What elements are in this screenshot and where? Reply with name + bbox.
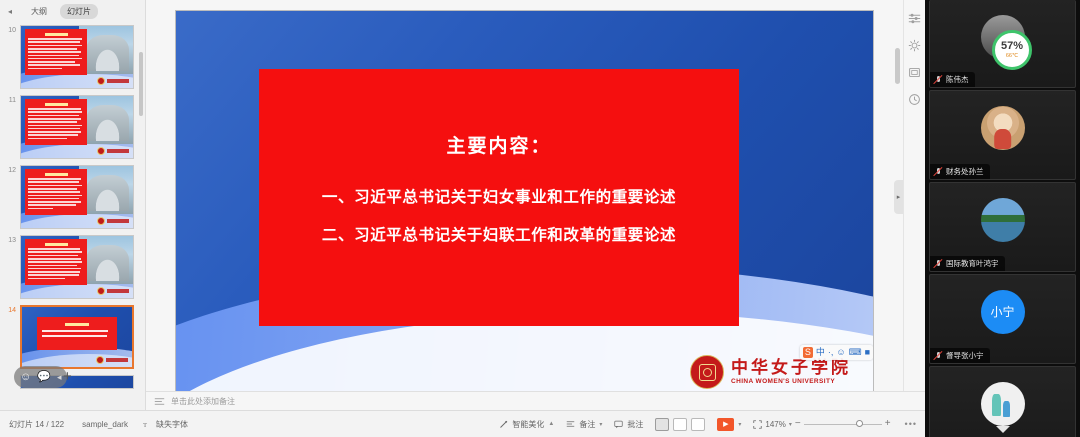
thumb-logo	[97, 77, 129, 85]
zoom-slider-knob[interactable]	[856, 420, 863, 427]
frame-icon[interactable]	[908, 66, 921, 79]
font-warning-label: 缺失字体	[156, 419, 188, 430]
normal-view-icon[interactable]	[655, 418, 669, 431]
avatar	[981, 106, 1025, 150]
slide-bullet-1: 一、习近平总书记关于妇女事业和工作的重要论述	[322, 185, 676, 207]
floating-pill-toolbar[interactable]: ☺ 💬 ◂	[14, 366, 67, 388]
font-warning-icon: T	[143, 420, 152, 429]
ime-emoji-icon[interactable]: ☺	[836, 347, 845, 358]
thumb-logo	[97, 147, 129, 155]
status-bar: 幻灯片 14 / 122 sample_dark T 缺失字体 智能美化 ▲ 备…	[0, 410, 925, 437]
mic-muted-icon	[933, 351, 943, 361]
list-item[interactable]: 11	[0, 92, 145, 162]
play-group: ▶ ▾	[711, 418, 747, 431]
zoom-slider-track[interactable]	[804, 424, 882, 425]
thumb-number: 12	[0, 165, 20, 174]
ime-logo-icon[interactable]: S	[803, 347, 813, 358]
thumb-logo	[97, 217, 129, 225]
canvas-scrollbar[interactable]	[895, 48, 900, 84]
participant-namebar: 财务处孙兰	[930, 164, 990, 179]
ime-language-icon[interactable]: 中	[816, 347, 825, 358]
chevron-up-icon[interactable]: ▲	[548, 421, 554, 427]
logo-name-cn: 中华女子学院	[731, 359, 851, 376]
ime-floating-toolbar[interactable]: S 中 ·, ☺ ⌨ ■	[800, 345, 873, 360]
notes-toggle-button[interactable]: 备注 ▾	[560, 419, 608, 430]
notes-placeholder: 单击此处添加备注	[171, 396, 235, 407]
thumb-logo	[96, 356, 128, 364]
slide-count-label[interactable]: 幻灯片 14 / 122	[0, 419, 73, 430]
participant-name: 陈伟杰	[946, 74, 969, 85]
logo-name-en: CHINA WOMEN'S UNIVERSITY	[731, 379, 851, 386]
thumb-building-photo	[79, 236, 133, 284]
university-seal-icon	[97, 77, 105, 85]
tab-slides[interactable]: 幻灯片	[60, 4, 98, 19]
notes-bar[interactable]: 单击此处添加备注	[146, 391, 925, 410]
view-mode-group	[649, 418, 711, 431]
thumb-preview[interactable]	[20, 95, 134, 159]
comment-button[interactable]: 批注	[608, 419, 649, 430]
notes-icon	[566, 420, 575, 428]
mic-muted-icon	[933, 259, 943, 269]
slide-thumbnail-panel: ◂ 大纲 幻灯片 10	[0, 0, 146, 410]
thumb-building-photo	[79, 96, 133, 144]
reading-view-icon[interactable]	[691, 418, 705, 431]
participant-name: 国际教育叶鸿宇	[946, 258, 999, 269]
side-panel-collapse-button[interactable]: ▸	[894, 180, 903, 214]
logo-text-block: 中华女子学院 CHINA WOMEN'S UNIVERSITY	[731, 359, 851, 386]
zoom-level-label[interactable]: 147%	[765, 420, 785, 429]
smiley-icon[interactable]: ☺	[20, 372, 31, 383]
slide-red-content-box[interactable]: 主要内容： 一、习近平总书记关于妇女事业和工作的重要论述 二、习近平总书记关于妇…	[259, 69, 739, 326]
avatar	[981, 382, 1025, 426]
font-warning[interactable]: T 缺失字体	[137, 419, 194, 430]
battery-status-widget[interactable]: 57% 66℃	[992, 30, 1032, 70]
participant-tile[interactable]: 财务处孙兰	[929, 90, 1076, 180]
battery-percent: 57%	[1001, 41, 1023, 52]
participant-namebar: 督导张小宁	[930, 348, 990, 363]
thumb-number: 13	[0, 235, 20, 244]
thumb-red-textbox	[25, 99, 87, 145]
slide-university-logo: 中华女子学院 CHINA WOMEN'S UNIVERSITY	[690, 355, 851, 389]
slide-canvas[interactable]: 主要内容： 一、习近平总书记关于妇女事业和工作的重要论述 二、习近平总书记关于妇…	[176, 11, 873, 397]
thumb-number: 14	[0, 305, 20, 314]
list-item[interactable]: 12	[0, 162, 145, 232]
status-overflow-button[interactable]: •••	[897, 419, 925, 429]
participant-tile[interactable]: 国际教育叶鸿宇	[929, 182, 1076, 272]
thumb-red-textbox	[25, 239, 87, 285]
slide-editor: 主要内容： 一、习近平总书记关于妇女事业和工作的重要论述 二、习近平总书记关于妇…	[146, 0, 925, 410]
add-slide-button[interactable]: +	[63, 366, 72, 388]
editor-side-toolbar	[903, 0, 925, 410]
tab-outline[interactable]: 大纲	[28, 4, 50, 19]
thumb-number: 10	[0, 25, 20, 34]
chevron-down-icon[interactable]: ▾	[738, 421, 741, 428]
thumb-red-textbox	[25, 169, 87, 215]
thumbnail-panel-tabs: ◂ 大纲 幻灯片	[0, 0, 145, 22]
avatar-initials: 小宁	[981, 290, 1025, 334]
slide-bullet-2: 二、习近平总书记关于妇联工作和改革的重要论述	[322, 223, 676, 245]
thumbnail-scroll-area[interactable]: 10	[0, 22, 145, 410]
history-clock-icon[interactable]	[908, 93, 921, 106]
notes-icon	[154, 397, 165, 406]
university-seal-icon	[690, 355, 724, 389]
thumb-preview[interactable]	[20, 25, 134, 89]
thumb-logo	[97, 287, 129, 295]
avatar: 小宁	[981, 290, 1025, 334]
chevron-down-icon[interactable]: ▾	[599, 421, 602, 428]
panel-collapse-icon[interactable]: ◂	[8, 7, 18, 16]
thumb-preview[interactable]	[20, 235, 134, 299]
list-item[interactable]: 13	[0, 232, 145, 302]
thumb-building-photo	[79, 26, 133, 74]
play-icon[interactable]: ▶	[717, 418, 734, 431]
app-root: ◂ 大纲 幻灯片 10	[0, 0, 1080, 437]
ime-toolbox-icon[interactable]: ■	[865, 347, 870, 358]
thumb-red-card	[37, 317, 116, 350]
mic-muted-icon	[933, 167, 943, 177]
thumb-red-textbox	[25, 29, 87, 75]
magic-wand-icon	[499, 420, 508, 429]
zoom-out-button[interactable]: −	[795, 419, 801, 429]
university-seal-icon	[96, 356, 104, 364]
beautify-button[interactable]: 智能美化 ▲	[493, 419, 560, 430]
comment-icon[interactable]: 💬	[37, 372, 51, 383]
participant-name: 财务处孙兰	[946, 166, 984, 177]
ime-keyboard-icon[interactable]: ⌨	[849, 347, 862, 358]
mic-muted-icon	[933, 75, 943, 85]
chevron-down-icon[interactable]: ▾	[789, 421, 792, 428]
theme-name-label[interactable]: sample_dark	[73, 420, 137, 429]
slide-title: 主要内容：	[446, 131, 551, 158]
zoom-control: 147% ▾ − +	[747, 419, 896, 429]
university-seal-icon	[97, 147, 105, 155]
comment-icon	[614, 420, 623, 429]
thumb-preview[interactable]	[20, 165, 134, 229]
thumb-building-photo	[79, 166, 133, 214]
university-seal-icon	[97, 217, 105, 225]
zoom-in-button[interactable]: +	[885, 419, 891, 429]
slide-sorter-icon[interactable]	[673, 418, 687, 431]
battery-temperature: 66℃	[1006, 53, 1018, 59]
sliders-icon[interactable]	[908, 12, 921, 25]
thumb-preview-selected[interactable]	[20, 305, 134, 369]
chevron-down-icon[interactable]	[996, 426, 1010, 433]
participant-name: 督导张小宁	[946, 350, 984, 361]
svg-text:T: T	[143, 421, 148, 428]
chevron-left-icon[interactable]: ◂	[57, 372, 62, 383]
ime-punctuation-icon[interactable]: ·,	[828, 347, 834, 358]
beautify-label: 智能美化	[512, 419, 544, 430]
fit-to-window-icon[interactable]	[753, 420, 762, 429]
thumbnail-scrollbar[interactable]	[139, 52, 143, 116]
list-item[interactable]: 10	[0, 22, 145, 92]
settings-gear-icon[interactable]	[908, 39, 921, 52]
participant-namebar: 陈伟杰	[930, 72, 975, 87]
notes-btn-label: 备注	[579, 419, 595, 430]
comment-btn-label: 批注	[627, 419, 643, 430]
avatar	[981, 198, 1025, 242]
list-item[interactable]: 14	[0, 302, 145, 372]
thumb-number: 11	[0, 95, 20, 104]
participant-tile[interactable]: 小宁 督导张小宁	[929, 274, 1076, 364]
participant-namebar: 国际教育叶鸿宇	[930, 256, 1005, 271]
university-seal-icon	[97, 287, 105, 295]
